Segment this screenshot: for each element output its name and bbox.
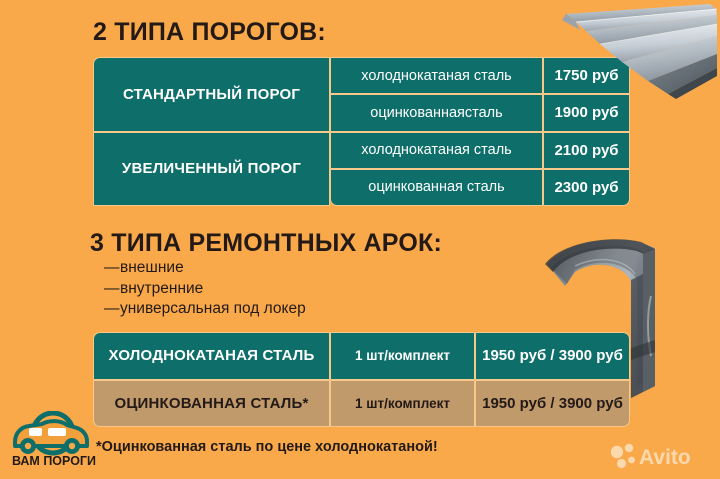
list-item-label: внутренние xyxy=(120,280,203,297)
page-title-arches: 3 ТИПА РЕМОНТНЫХ АРОК: xyxy=(90,229,442,258)
arch-material: ХОЛОДНОКАТАНАЯ СТАЛЬ xyxy=(93,332,330,380)
sill-price: 2300 руб xyxy=(543,169,630,206)
avito-watermark: Avito xyxy=(609,441,709,471)
page-title-sills: 2 ТИПА ПОРОГОВ: xyxy=(93,18,326,47)
dash-icon: — xyxy=(104,299,120,320)
list-item-label: внешние xyxy=(120,259,184,276)
car-logo-icon xyxy=(15,413,87,454)
table-row: УВЕЛИЧЕННЫЙ ПОРОГ холоднокатаная сталь 2… xyxy=(93,132,630,169)
arch-kit: 1 шт/комплект xyxy=(330,332,475,380)
sill-type-standard: СТАНДАРТНЫЙ ПОРОГ xyxy=(93,57,330,132)
dash-icon: — xyxy=(104,258,120,279)
arch-types-list: —внешние —внутренние —универсальная под … xyxy=(104,258,306,320)
avito-wordmark: Avito xyxy=(639,446,691,469)
brand-name: ВАМ ПОРОГИ xyxy=(12,454,96,468)
list-item: —внешние xyxy=(104,258,306,279)
footnote-text: *Оцинкованная сталь по цене холоднокатан… xyxy=(96,439,438,455)
list-item: —универсальная под локер xyxy=(104,299,306,320)
list-item-label: универсальная под локер xyxy=(120,300,306,317)
avito-logo-icon xyxy=(611,444,635,468)
sill-material: оцинкованная сталь xyxy=(330,169,543,206)
promo-poster: 2 ТИПА ПОРОГОВ: СТАНДАРТНЫЙ ПОРОГ холодн… xyxy=(0,0,720,479)
sill-material: холоднокатаная сталь xyxy=(330,132,543,169)
sill-type-extended: УВЕЛИЧЕННЫЙ ПОРОГ xyxy=(93,132,330,207)
dash-icon: — xyxy=(104,279,120,300)
sill-material: холоднокатаная сталь xyxy=(330,57,543,94)
brand-logo: ВАМ ПОРОГИ xyxy=(6,411,102,469)
wheel-arch-repair-panel-photo xyxy=(505,236,720,401)
arch-kit: 1 шт/комплект xyxy=(330,380,475,428)
list-item: —внутренние xyxy=(104,279,306,300)
sill-price: 2100 руб xyxy=(543,132,630,169)
sill-material: оцинкованнаясталь xyxy=(330,94,543,131)
arch-material: ОЦИНКОВАННАЯ СТАЛЬ* xyxy=(93,380,330,428)
car-sill-photo xyxy=(540,2,718,102)
